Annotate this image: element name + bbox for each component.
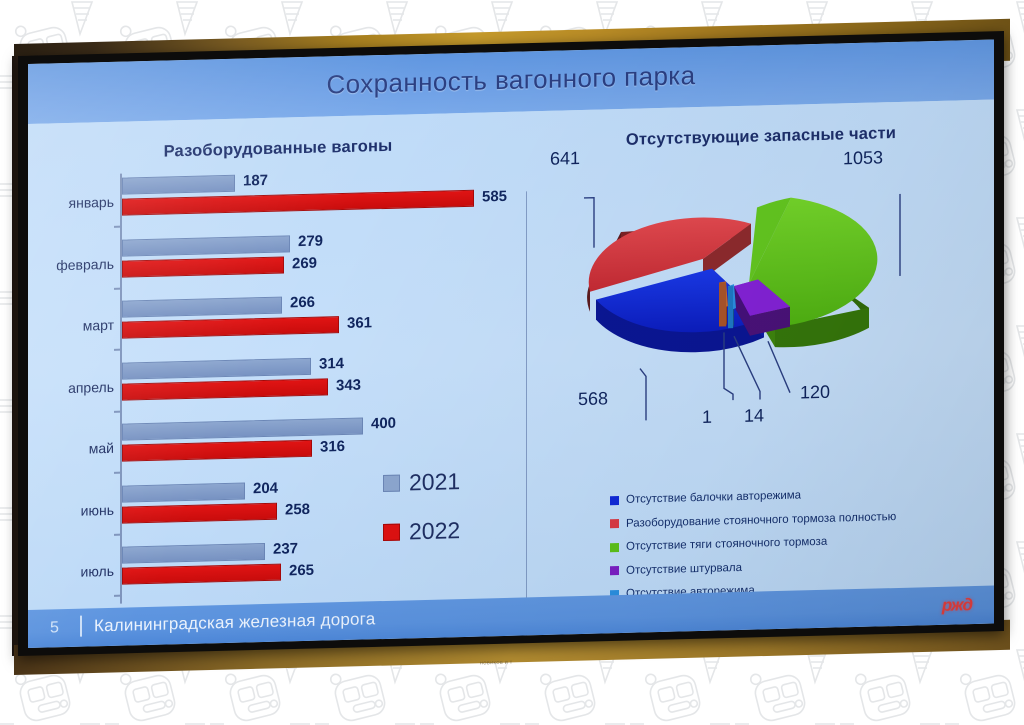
category-label: май xyxy=(28,440,114,458)
bar-value-label: 585 xyxy=(482,188,507,206)
category-label: февраль xyxy=(28,255,114,273)
bar-2022 xyxy=(122,316,339,338)
legend-item: Разоборудование стояночного тормоза полн… xyxy=(610,511,896,530)
pie-value-label-641: 641 xyxy=(550,148,580,170)
page-number: 5 xyxy=(50,619,59,637)
legend-swatch-icon xyxy=(383,475,400,492)
bar-2022 xyxy=(122,256,284,277)
axis-tick xyxy=(114,595,121,597)
organization-name: Калининградская железная дорога xyxy=(94,609,375,636)
bar-2021 xyxy=(122,175,235,195)
bar-value-label: 266 xyxy=(290,294,315,312)
bar-value-label: 400 xyxy=(371,415,396,433)
bar-value-label: 265 xyxy=(289,562,314,580)
bar-2021 xyxy=(122,235,290,256)
pie-chart-panel: Отсутствующие запасные части xyxy=(528,100,994,598)
bar-2022 xyxy=(122,190,474,216)
axis-tick xyxy=(114,533,121,535)
bar-2022 xyxy=(122,378,328,400)
slide-body: Разоборудованные вагоны январь187585февр… xyxy=(28,100,994,610)
category-label: январь xyxy=(28,194,114,212)
axis-tick xyxy=(114,410,121,412)
category-label: март xyxy=(28,317,114,335)
bar-2021 xyxy=(122,357,311,379)
legend-item: Отсутствие балочки авторежима xyxy=(610,487,896,506)
page-title: Сохранность вагонного парка xyxy=(28,53,994,108)
category-label: июнь xyxy=(28,501,114,519)
legend-swatch-icon xyxy=(610,543,619,552)
legend-item: Отсутствие штурвала xyxy=(610,558,896,577)
bar-2021 xyxy=(122,297,282,318)
bar-value-label: 316 xyxy=(320,438,345,456)
bar-value-label: 258 xyxy=(285,500,310,518)
pie-value-label-1053: 1053 xyxy=(843,147,883,169)
bar-group: январь187585 xyxy=(28,167,528,220)
pie-value-label-568: 568 xyxy=(578,388,608,410)
bar-value-label: 314 xyxy=(319,355,344,373)
legend-label: 2021 xyxy=(409,468,460,496)
legend-label: Отсутствие тяги стояночного тормоза xyxy=(626,536,827,553)
legend-item-2021: 2021 xyxy=(383,468,460,497)
bar-group: март266361 xyxy=(28,290,528,343)
legend-label: Разоборудование стояночного тормоза полн… xyxy=(626,511,896,530)
bar-chart-title: Разоборудованные вагоны xyxy=(28,133,528,165)
bar-2022 xyxy=(122,502,277,523)
axis-tick xyxy=(114,226,121,228)
category-label: апрель xyxy=(28,378,114,396)
pie-value-label-120: 120 xyxy=(800,382,830,404)
axis-tick xyxy=(114,349,121,351)
legend-label: Отсутствие штурвала xyxy=(626,561,742,576)
pie-value-label-14: 14 xyxy=(744,405,764,427)
footer-separator xyxy=(80,616,82,637)
bar-group: май400316 xyxy=(28,413,528,466)
presentation-slide: Сохранность вагонного парка Разоборудова… xyxy=(28,40,994,648)
axis-tick xyxy=(114,472,121,474)
bar-value-label: 187 xyxy=(243,172,268,190)
pie-value-label-1: 1 xyxy=(702,407,712,428)
bar-2021 xyxy=(122,418,363,441)
legend-swatch-icon xyxy=(610,566,619,575)
bar-2021 xyxy=(122,482,245,502)
bar-group: февраль279269 xyxy=(28,229,528,282)
category-label: июль xyxy=(28,563,114,581)
axis-tick xyxy=(114,287,121,289)
bar-chart-panel: Разоборудованные вагоны январь187585февр… xyxy=(28,111,528,610)
legend-label: Отсутствие балочки авторежима xyxy=(626,489,801,505)
legend-swatch-icon xyxy=(610,496,619,505)
legend-label: 2022 xyxy=(409,517,460,545)
bar-2022 xyxy=(122,440,312,462)
legend-swatch-icon xyxy=(610,519,619,528)
bar-2021 xyxy=(122,543,265,564)
bar-value-label: 343 xyxy=(336,376,361,394)
bar-value-label: 269 xyxy=(292,254,317,272)
rzd-logo-icon: ржд xyxy=(942,595,972,616)
micro-caption: НОВИКОВ И Т xyxy=(480,660,513,666)
bar-group: апрель314343 xyxy=(28,352,528,405)
bar-chart-legend: 2021 2022 xyxy=(383,468,460,568)
bar-value-label: 204 xyxy=(253,479,278,497)
bar-2022 xyxy=(122,564,281,585)
bar-value-label: 361 xyxy=(347,314,372,332)
legend-item-2022: 2022 xyxy=(383,517,460,546)
legend-item: Отсутствие тяги стояночного тормоза xyxy=(610,534,896,553)
bar-value-label: 237 xyxy=(273,540,298,558)
legend-swatch-icon xyxy=(383,524,400,541)
bar-value-label: 279 xyxy=(298,232,323,250)
